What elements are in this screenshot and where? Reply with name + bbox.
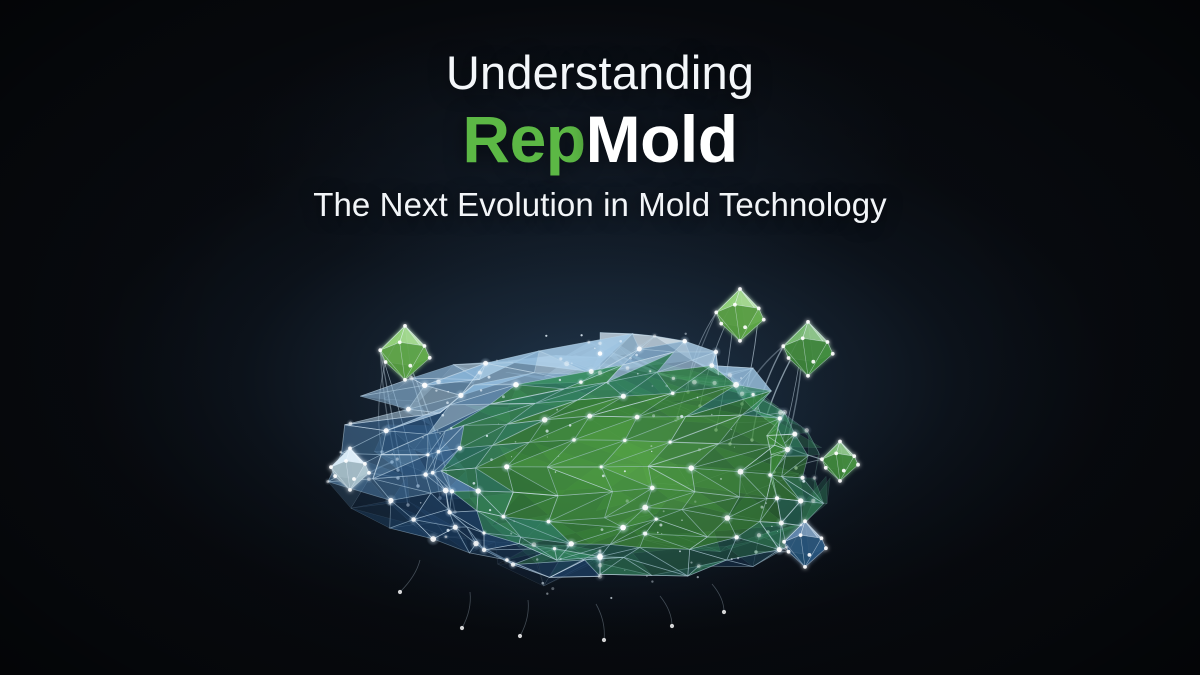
eyebrow-text: Understanding <box>0 48 1200 98</box>
brand-suffix-mold: Mold <box>586 102 738 176</box>
tagline-text: The Next Evolution in Mold Technology <box>0 187 1200 223</box>
slide-canvas: Understanding RepMold The Next Evolution… <box>0 0 1200 675</box>
brand-prefix-rep: Rep <box>462 102 585 176</box>
title-group: Understanding RepMold The Next Evolution… <box>0 48 1200 223</box>
brand-wordmark: RepMold <box>0 104 1200 175</box>
